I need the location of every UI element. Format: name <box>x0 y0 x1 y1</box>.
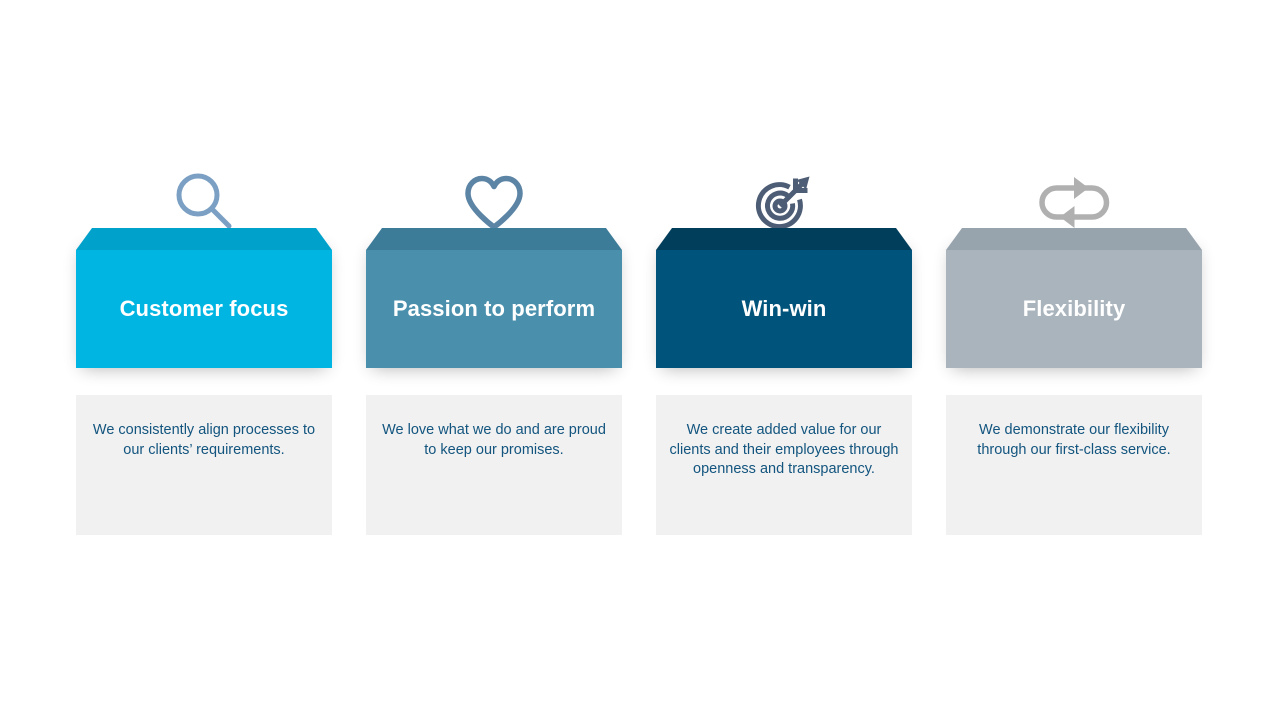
target-arrow-icon <box>656 160 912 232</box>
card-title: Win-win <box>656 250 912 368</box>
card-description: We consistently align processes to our c… <box>86 421 322 460</box>
card-header-box: Passion to perform <box>366 228 622 368</box>
card-title: Passion to perform <box>366 250 622 368</box>
card-body-panel: We love what we do and are proud to keep… <box>366 395 622 535</box>
card-description: We create added value for our clients an… <box>666 421 902 480</box>
card-title: Flexibility <box>946 250 1202 368</box>
card-header-box: Win-win <box>656 228 912 368</box>
refresh-cycle-icon <box>946 160 1202 232</box>
heart-icon <box>366 160 622 232</box>
card-body-panel: We demonstrate our flexibility through o… <box>946 395 1202 535</box>
card-body-panel: We create added value for our clients an… <box>656 395 912 535</box>
card-description: We love what we do and are proud to keep… <box>376 421 612 460</box>
values-cards-stage: Customer focusWe consistently align proc… <box>0 0 1280 720</box>
card-body-panel: We consistently align processes to our c… <box>76 395 332 535</box>
card-title: Customer focus <box>76 250 332 368</box>
magnifier-icon <box>76 160 332 232</box>
card-header-box: Customer focus <box>76 228 332 368</box>
card-header-box: Flexibility <box>946 228 1202 368</box>
card-description: We demonstrate our flexibility through o… <box>956 421 1192 460</box>
